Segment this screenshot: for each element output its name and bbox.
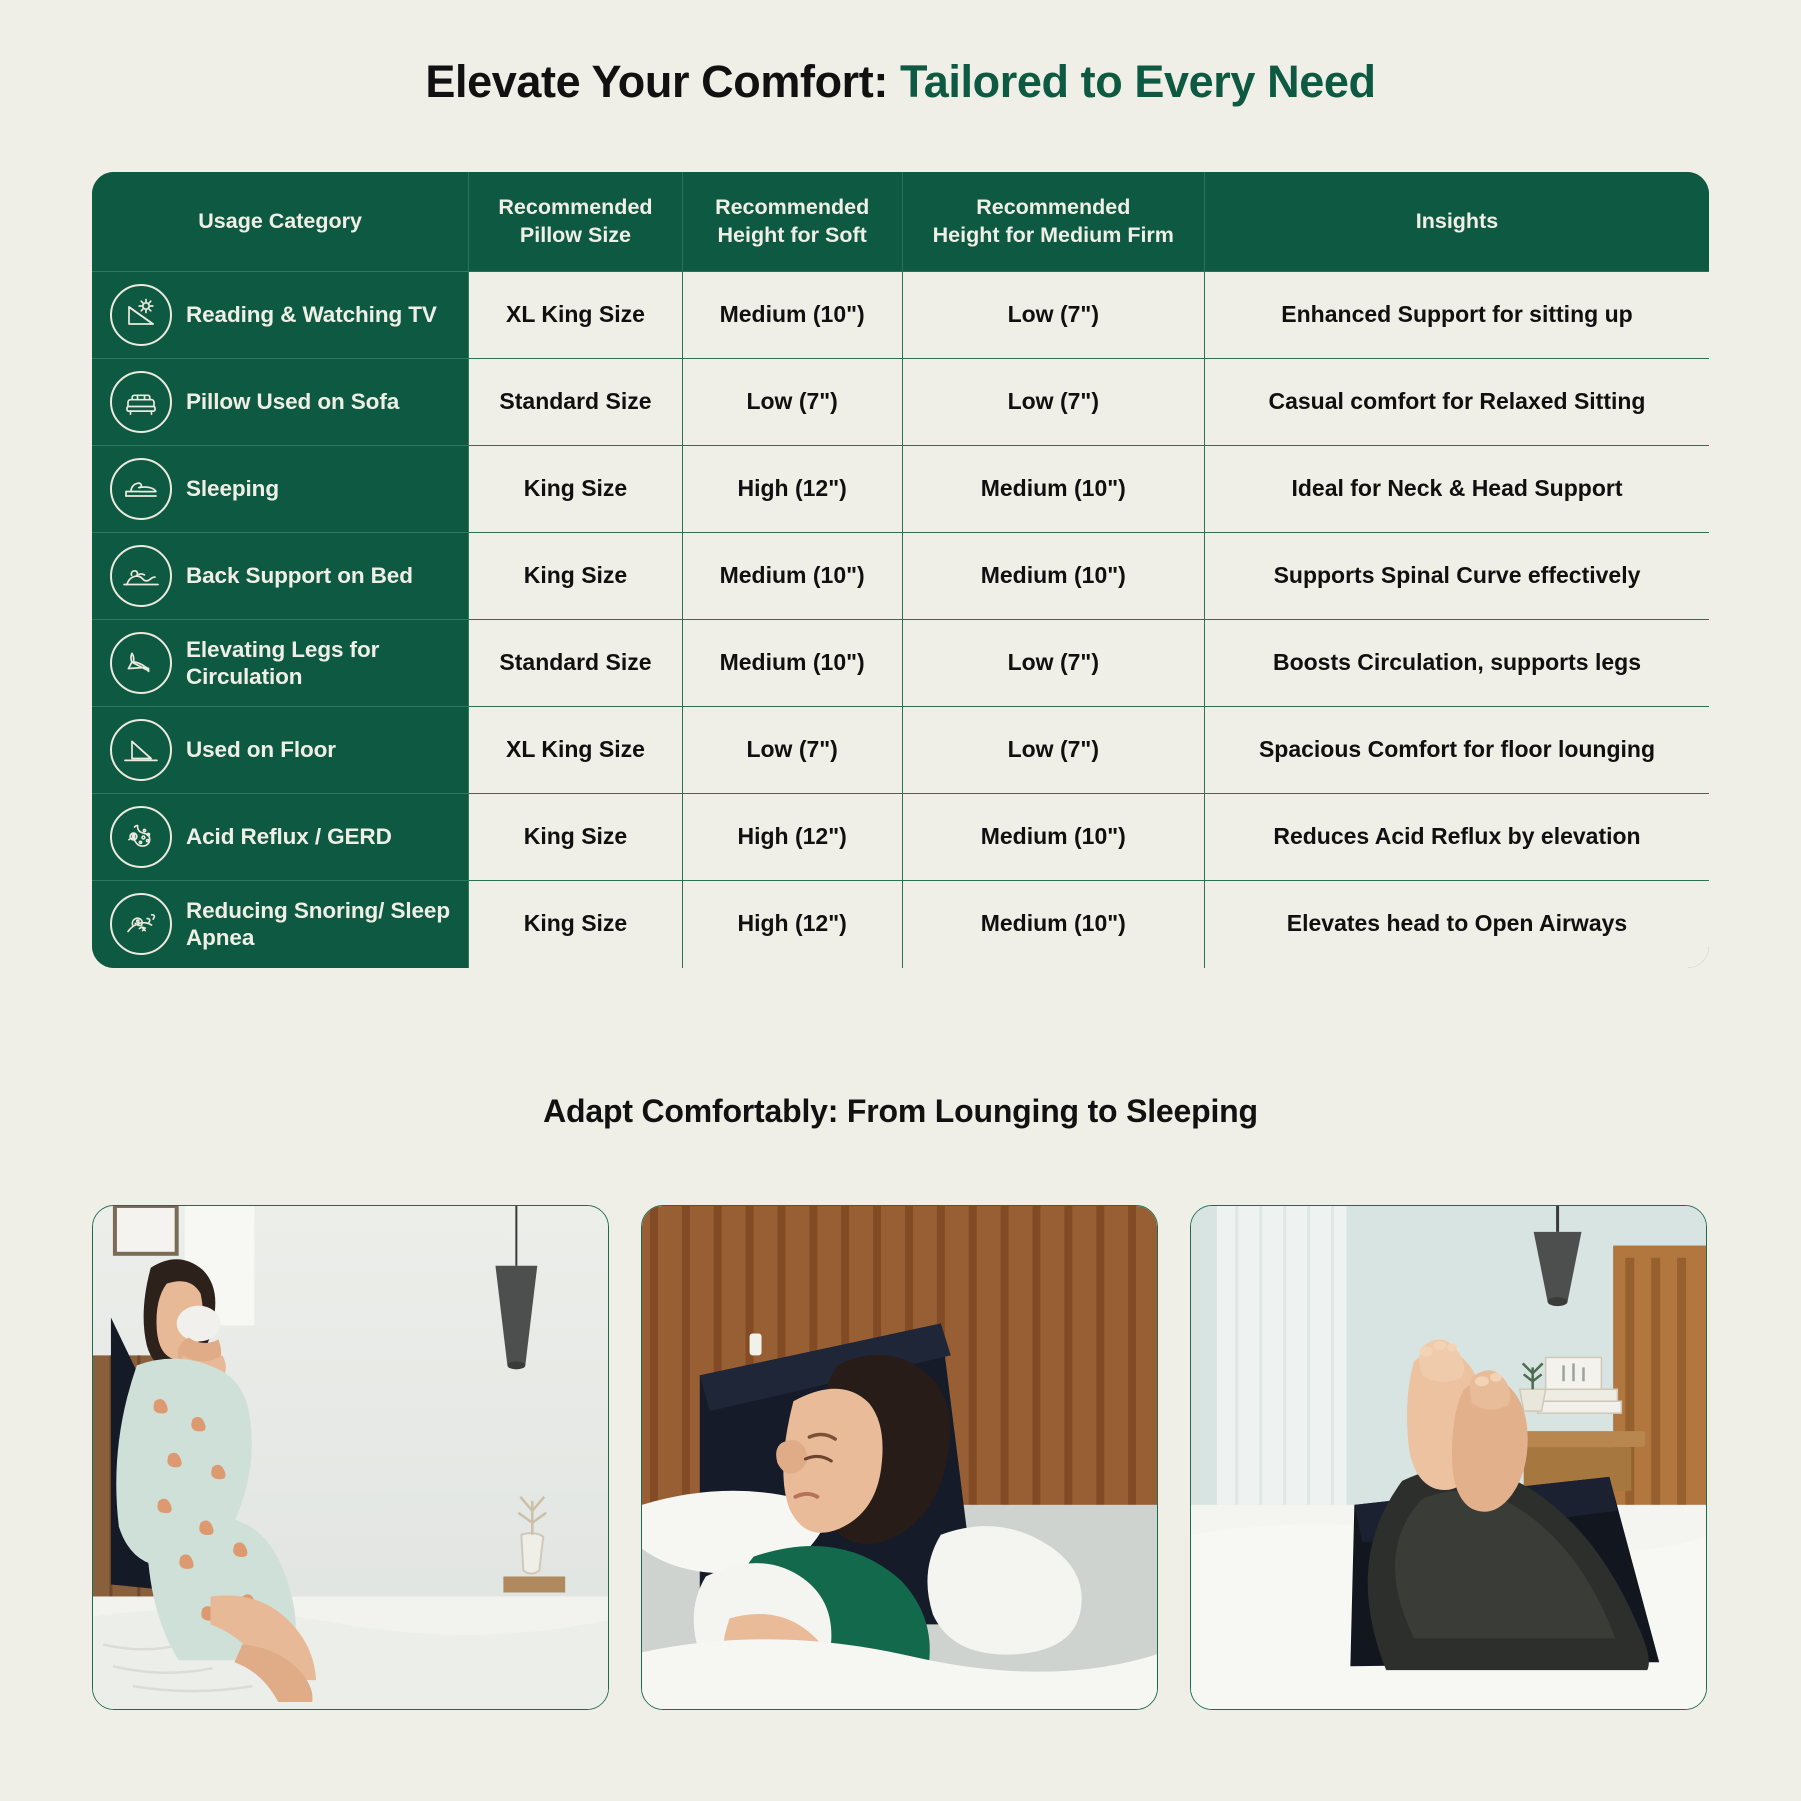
- section-subtitle: Adapt Comfortably: From Lounging to Slee…: [0, 1093, 1801, 1130]
- height-soft-cell: Low (7"): [682, 359, 902, 446]
- height-medium-firm-cell: Low (7"): [902, 272, 1204, 359]
- insight-cell: Boosts Circulation, supports legs: [1204, 620, 1709, 707]
- insight-cell: Supports Spinal Curve effectively: [1204, 533, 1709, 620]
- usage-category-label: Sleeping: [186, 475, 279, 502]
- usage-category-label: Back Support on Bed: [186, 562, 413, 589]
- pillow-size-cell: XL King Size: [469, 707, 682, 794]
- table-row: Reading & Watching TV XL King Size Mediu…: [92, 272, 1709, 359]
- column-header-height-soft: Recommended Height for Soft: [682, 172, 902, 272]
- table-row: Sleeping King Size High (12") Medium (10…: [92, 446, 1709, 533]
- usage-category-label: Reducing Snoring/ Sleep Apnea: [186, 897, 454, 952]
- usage-category-label: Reading & Watching TV: [186, 301, 437, 328]
- photo-gallery: [92, 1205, 1709, 1710]
- height-medium-firm-cell: Medium (10"): [902, 881, 1204, 968]
- table-header-row: Usage Category Recommended Pillow Size R…: [92, 172, 1709, 272]
- column-header-line: Recommended: [693, 194, 892, 222]
- table-row: Back Support on Bed King Size Medium (10…: [92, 533, 1709, 620]
- snoring-head-icon: [110, 893, 172, 955]
- insight-cell: Casual comfort for Relaxed Sitting: [1204, 359, 1709, 446]
- wedge-on-floor-icon: [110, 719, 172, 781]
- pillow-size-cell: King Size: [469, 446, 682, 533]
- pillow-size-cell: King Size: [469, 794, 682, 881]
- pillow-size-cell: Standard Size: [469, 620, 682, 707]
- column-header-insights: Insights: [1204, 172, 1709, 272]
- column-header-line: Recommended: [913, 194, 1194, 222]
- comfort-table-container: Usage Category Recommended Pillow Size R…: [92, 172, 1709, 968]
- back-support-person-icon: [110, 545, 172, 607]
- pillow-size-cell: Standard Size: [469, 359, 682, 446]
- column-header-line: Pillow Size: [479, 222, 671, 250]
- insight-cell: Ideal for Neck & Head Support: [1204, 446, 1709, 533]
- pillow-size-cell: King Size: [469, 533, 682, 620]
- photo-legs-elevated-on-wedge: [1190, 1205, 1707, 1710]
- height-medium-firm-cell: Low (7"): [902, 707, 1204, 794]
- elevated-legs-icon: [110, 632, 172, 694]
- photo-woman-reading-drinking-in-bed: [92, 1205, 609, 1710]
- usage-category-label: Pillow Used on Sofa: [186, 388, 399, 415]
- usage-category-cell: Reading & Watching TV: [92, 272, 469, 359]
- usage-category-cell: Reducing Snoring/ Sleep Apnea: [92, 881, 469, 968]
- page-title-accent: Tailored to Every Need: [900, 56, 1376, 107]
- table-row: Elevating Legs for Circulation Standard …: [92, 620, 1709, 707]
- height-soft-cell: Medium (10"): [682, 620, 902, 707]
- column-header-line: Insights: [1215, 208, 1699, 236]
- usage-category-label: Acid Reflux / GERD: [186, 823, 392, 850]
- page-title: Elevate Your Comfort: Tailored to Every …: [0, 0, 1801, 108]
- column-header-line: Usage Category: [102, 208, 458, 236]
- sleeping-head-pillow-icon: [110, 458, 172, 520]
- table-row: Pillow Used on Sofa Standard Size Low (7…: [92, 359, 1709, 446]
- wedge-pillow-sparkle-icon: [110, 284, 172, 346]
- stomach-acid-icon: [110, 806, 172, 868]
- column-header-line: Recommended: [479, 194, 671, 222]
- insight-cell: Spacious Comfort for floor lounging: [1204, 707, 1709, 794]
- table-row: Acid Reflux / GERD King Size High (12") …: [92, 794, 1709, 881]
- height-medium-firm-cell: Medium (10"): [902, 794, 1204, 881]
- page-title-black: Elevate Your Comfort:: [425, 56, 900, 107]
- comfort-table: Usage Category Recommended Pillow Size R…: [92, 172, 1709, 968]
- column-header-pillow-size: Recommended Pillow Size: [469, 172, 682, 272]
- usage-category-cell: Used on Floor: [92, 707, 469, 794]
- pillow-size-cell: King Size: [469, 881, 682, 968]
- table-row: Reducing Snoring/ Sleep Apnea King Size …: [92, 881, 1709, 968]
- pillow-size-cell: XL King Size: [469, 272, 682, 359]
- column-header-usage-category: Usage Category: [92, 172, 469, 272]
- insight-cell: Elevates head to Open Airways: [1204, 881, 1709, 968]
- column-header-height-medium-firm: Recommended Height for Medium Firm: [902, 172, 1204, 272]
- usage-category-cell: Acid Reflux / GERD: [92, 794, 469, 881]
- table-header: Usage Category Recommended Pillow Size R…: [92, 172, 1709, 272]
- usage-category-cell: Elevating Legs for Circulation: [92, 620, 469, 707]
- sofa-icon: [110, 371, 172, 433]
- column-header-line: Height for Soft: [693, 222, 892, 250]
- usage-category-cell: Sleeping: [92, 446, 469, 533]
- table-body: Reading & Watching TV XL King Size Mediu…: [92, 272, 1709, 968]
- height-soft-cell: High (12"): [682, 881, 902, 968]
- height-medium-firm-cell: Medium (10"): [902, 533, 1204, 620]
- height-medium-firm-cell: Medium (10"): [902, 446, 1204, 533]
- usage-category-label: Used on Floor: [186, 736, 336, 763]
- table-row: Used on Floor XL King Size Low (7") Low …: [92, 707, 1709, 794]
- insight-cell: Enhanced Support for sitting up: [1204, 272, 1709, 359]
- height-soft-cell: High (12"): [682, 794, 902, 881]
- height-soft-cell: High (12"): [682, 446, 902, 533]
- height-medium-firm-cell: Low (7"): [902, 359, 1204, 446]
- usage-category-label: Elevating Legs for Circulation: [186, 636, 454, 691]
- column-header-line: Height for Medium Firm: [913, 222, 1194, 250]
- height-soft-cell: Low (7"): [682, 707, 902, 794]
- usage-category-cell: Pillow Used on Sofa: [92, 359, 469, 446]
- height-soft-cell: Medium (10"): [682, 272, 902, 359]
- height-medium-firm-cell: Low (7"): [902, 620, 1204, 707]
- height-soft-cell: Medium (10"): [682, 533, 902, 620]
- infographic-page: Elevate Your Comfort: Tailored to Every …: [0, 0, 1801, 1801]
- insight-cell: Reduces Acid Reflux by elevation: [1204, 794, 1709, 881]
- usage-category-cell: Back Support on Bed: [92, 533, 469, 620]
- photo-woman-sleeping-on-wedge: [641, 1205, 1158, 1710]
